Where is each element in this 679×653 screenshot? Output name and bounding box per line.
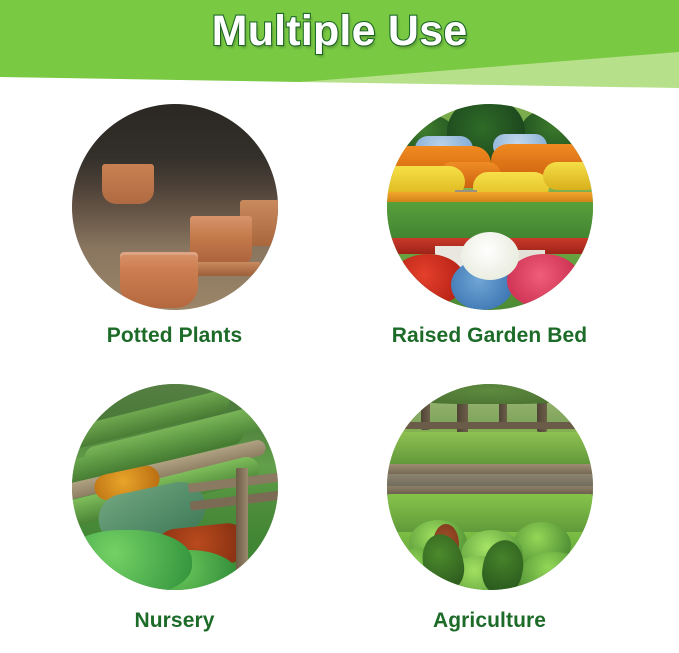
nursery-photo [72,384,278,590]
page-title: Multiple Use [0,7,679,56]
yellow-flower-band [543,162,593,190]
terracotta-pot [120,252,198,308]
crop-row [387,432,593,466]
raised-garden-bed-photo [387,104,593,310]
card-caption: Potted Plants [5,324,344,348]
nursery-photo-art [72,384,278,590]
white-flower-cluster [461,232,519,280]
use-case-grid: Potted Plants [0,96,679,650]
terracotta-pot [190,216,252,268]
use-case-card-raised-garden-bed: Raised Garden Bed [320,96,659,373]
use-case-card-potted-plants: Potted Plants [5,96,344,373]
header-banner: Multiple Use [0,0,679,96]
lettuce-head [519,552,589,590]
fence-rail [387,422,593,429]
tree-canopy [387,384,593,404]
raised-garden-bed-photo-art [387,104,593,310]
agriculture-photo-art [387,384,593,590]
pink-flower-cluster [507,254,581,308]
nasturtium-foliage [72,530,192,590]
potted-plants-photo-art [72,104,278,310]
agriculture-photo [387,384,593,590]
potted-plants-photo [72,104,278,310]
card-caption: Raised Garden Bed [320,324,659,348]
use-case-card-nursery: Nursery [5,376,344,653]
fence-post [236,468,248,576]
card-caption: Nursery [5,609,344,633]
use-case-card-agriculture: Agriculture [320,376,659,653]
card-caption: Agriculture [320,609,659,633]
terracotta-pot [102,164,154,204]
